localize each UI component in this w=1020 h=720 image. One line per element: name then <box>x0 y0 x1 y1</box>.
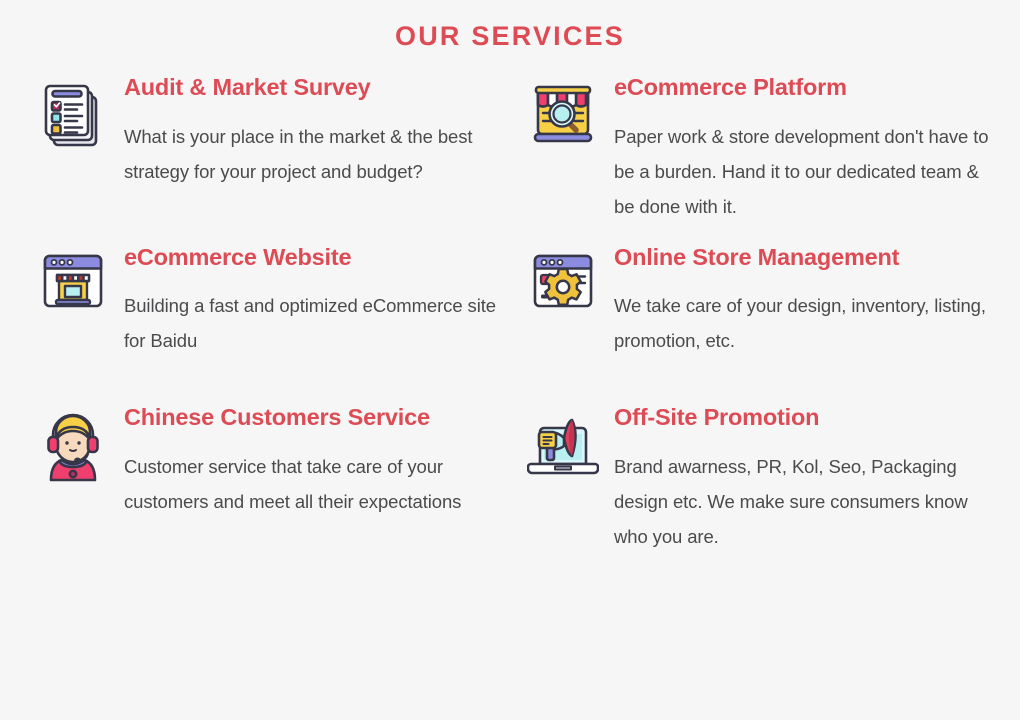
service-description: Brand awarness, PR, Kol, Seo, Packaging … <box>614 449 990 554</box>
service-text: eCommerce Website Building a fast and op… <box>124 244 512 358</box>
service-card-audit-market-survey[interactable]: Audit & Market Survey What is your place… <box>22 74 512 236</box>
service-description: Building a fast and optimized eCommerce … <box>124 288 500 358</box>
service-card-online-store-management[interactable]: Online Store Management We take care of … <box>512 244 1002 370</box>
services-section: OUR SERVICES <box>0 0 1020 720</box>
service-description: We take care of your design, inventory, … <box>614 288 990 358</box>
browser-gear-icon <box>530 250 596 312</box>
service-description: What is your place in the market & the b… <box>124 119 500 189</box>
page-title: OUR SERVICES <box>0 0 1020 52</box>
storefront-magnifier-icon <box>529 80 597 148</box>
service-title: eCommerce Platform <box>614 74 990 102</box>
service-icon-wrapper <box>512 74 614 224</box>
service-title: Audit & Market Survey <box>124 74 500 102</box>
service-text: Audit & Market Survey What is your place… <box>124 74 512 189</box>
service-title: eCommerce Website <box>124 244 500 272</box>
service-text: eCommerce Platform Paper work & store de… <box>614 74 1002 224</box>
documents-checklist-icon <box>40 80 106 148</box>
service-card-ecommerce-website[interactable]: eCommerce Website Building a fast and op… <box>22 244 512 370</box>
headset-agent-icon <box>43 410 103 482</box>
services-grid: Audit & Market Survey What is your place… <box>0 74 1020 565</box>
service-card-off-site-promotion[interactable]: Off-Site Promotion Brand awarness, PR, K… <box>512 404 1002 566</box>
service-text: Online Store Management We take care of … <box>614 244 1002 358</box>
service-description: Paper work & store development don't hav… <box>614 119 990 224</box>
service-text: Chinese Customers Service Customer servi… <box>124 404 512 519</box>
service-description: Customer service that take care of your … <box>124 449 500 519</box>
service-icon-wrapper <box>512 404 614 554</box>
service-text: Off-Site Promotion Brand awarness, PR, K… <box>614 404 1002 554</box>
service-title: Chinese Customers Service <box>124 404 500 432</box>
service-icon-wrapper <box>22 244 124 358</box>
browser-shop-icon <box>40 250 106 312</box>
service-card-chinese-customers-service[interactable]: Chinese Customers Service Customer servi… <box>22 404 512 566</box>
laptop-megaphone-icon <box>527 410 599 478</box>
service-card-ecommerce-platform[interactable]: eCommerce Platform Paper work & store de… <box>512 74 1002 236</box>
service-icon-wrapper <box>512 244 614 358</box>
service-title: Off-Site Promotion <box>614 404 990 432</box>
service-icon-wrapper <box>22 404 124 519</box>
service-icon-wrapper <box>22 74 124 189</box>
service-title: Online Store Management <box>614 244 990 272</box>
